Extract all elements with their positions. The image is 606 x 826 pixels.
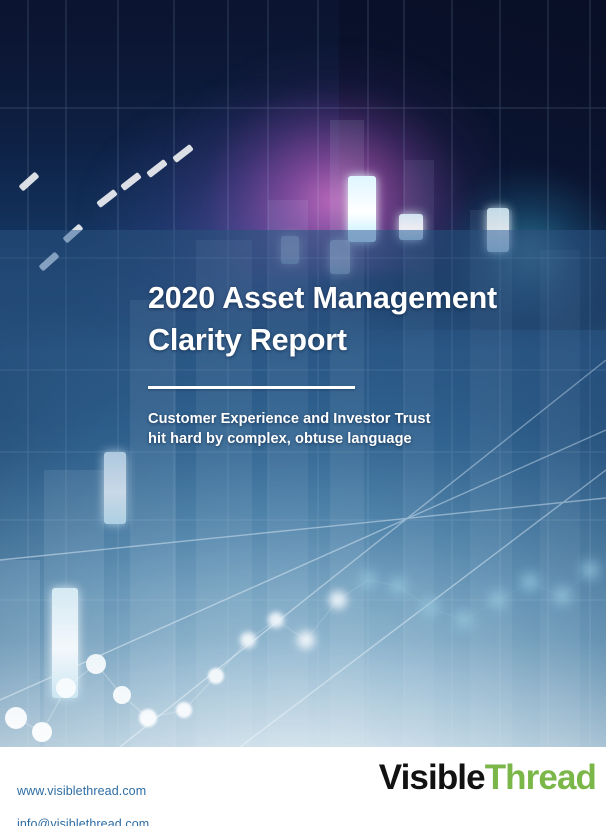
visiblethread-logo: VisibleThread <box>379 760 596 795</box>
cover-artwork: 2020 Asset Management Clarity Report Cus… <box>0 0 606 747</box>
logo-primary-text: Visible <box>379 758 485 797</box>
website-link[interactable]: www.visiblethread.com <box>17 783 149 800</box>
page-title: 2020 Asset Management Clarity Report <box>148 278 578 362</box>
page-subtitle: Customer Experience and Investor Trust h… <box>148 409 578 450</box>
email-link[interactable]: info@visiblethread.com <box>17 816 149 826</box>
title-divider <box>148 386 355 389</box>
report-cover: 2020 Asset Management Clarity Report Cus… <box>0 0 606 826</box>
cover-text-block: 2020 Asset Management Clarity Report Cus… <box>148 278 578 450</box>
contact-block: www.visiblethread.com info@visiblethread… <box>17 766 149 826</box>
cover-footer: www.visiblethread.com info@visiblethread… <box>0 747 606 826</box>
logo-secondary-text: Thread <box>485 758 596 797</box>
